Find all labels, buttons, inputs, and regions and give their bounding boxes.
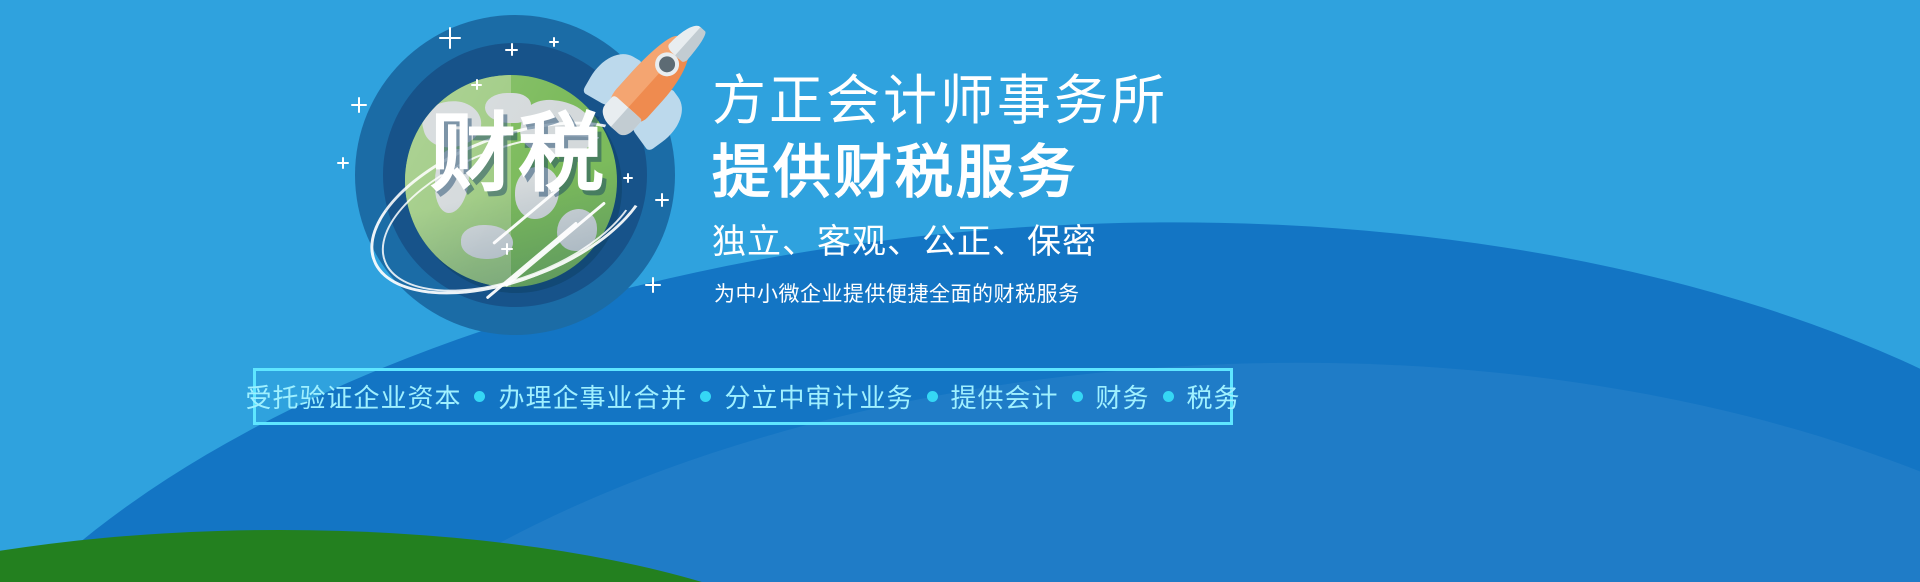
service-list: 受托验证企业资本办理企事业合并分立中审计业务提供会计财务税务 <box>243 378 1242 415</box>
service-list-bar: 受托验证企业资本办理企事业合并分立中审计业务提供会计财务税务 <box>253 368 1233 425</box>
service-separator-dot <box>1072 391 1083 402</box>
sparkle-icon <box>505 43 518 56</box>
service-item[interactable]: 提供会计 <box>949 378 1061 415</box>
logo-illustration: 财税 <box>355 15 715 375</box>
sparkle-icon <box>337 157 349 169</box>
headline-subtitle: 为中小微企业提供便捷全面的财税服务 <box>714 278 1472 310</box>
sparkle-icon <box>623 173 633 183</box>
sparkle-icon <box>439 27 461 49</box>
service-separator-dot <box>927 391 938 402</box>
headline-block: 方正会计师事务所 提供财税服务 独立、客观、公正、保密 为中小微企业提供便捷全面… <box>712 70 1472 310</box>
service-item[interactable]: 办理企事业合并 <box>496 378 689 415</box>
service-separator-dot <box>700 391 711 402</box>
promotional-banner: 财税 方正会计师事务所 提供财税服务 独立、客观、公正、保密 <box>0 0 1920 582</box>
sparkle-icon <box>549 37 559 47</box>
headline-secondary: 提供财税服务 <box>712 136 1472 208</box>
service-item[interactable]: 财务 <box>1094 378 1152 415</box>
service-item[interactable]: 分立中审计业务 <box>722 378 915 415</box>
sparkle-icon <box>655 193 669 207</box>
headline-primary: 方正会计师事务所 <box>712 70 1472 132</box>
sparkle-icon <box>645 277 661 293</box>
service-item[interactable]: 税务 <box>1185 378 1243 415</box>
service-separator-dot <box>1163 391 1174 402</box>
sparkle-icon <box>501 243 513 255</box>
service-item[interactable]: 受托验证企业资本 <box>243 378 463 415</box>
sparkle-icon <box>351 97 367 113</box>
headline-tagline: 独立、客观、公正、保密 <box>712 218 1472 266</box>
sparkle-icon <box>471 79 482 90</box>
service-separator-dot <box>474 391 485 402</box>
